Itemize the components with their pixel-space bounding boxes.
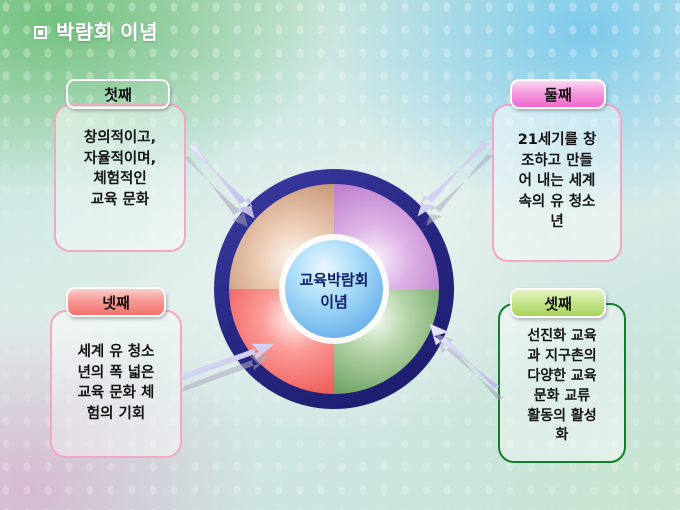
central-wheel-diagram: 교육박람회 이념: [212, 162, 456, 416]
info-box-fourth-header[interactable]: 넷째: [66, 287, 166, 317]
info-box-fourth-header-label: 넷째: [102, 292, 130, 313]
info-box-second-header-label: 둘째: [544, 84, 572, 105]
info-box-third-header-label: 셋째: [544, 293, 572, 314]
info-box-second-header[interactable]: 둘째: [510, 79, 606, 109]
info-box-third: 선진화 교육 과 지구촌의 다양한 교육 문화 교류 활동의 활성 화: [498, 303, 626, 463]
page-title: 박람회 이념: [34, 22, 158, 42]
center-label-line2: 이념: [320, 293, 348, 311]
center-label-line1: 교육박람회: [299, 271, 368, 289]
info-box-second-text: 21세기를 창 조하고 만들 어 내는 세계 속의 유 청소 년: [502, 130, 612, 233]
info-box-second: 21세기를 창 조하고 만들 어 내는 세계 속의 유 청소 년: [492, 104, 622, 262]
page-title-text: 박람회 이념: [56, 22, 158, 42]
info-box-first-header-label: 첫째: [104, 84, 132, 105]
info-box-third-header[interactable]: 셋째: [510, 288, 606, 318]
info-box-fourth: 세계 유 청소 년의 폭 넓은 교육 문화 체 험의 기회: [50, 310, 182, 458]
info-box-first: 창의적이고, 자율적이며, 체험적인 교육 문화: [54, 104, 186, 252]
slide-canvas: 박람회 이념: [0, 0, 680, 510]
hub-circle: [285, 240, 383, 338]
info-box-fourth-text: 세계 유 청소 년의 폭 넓은 교육 문화 체 험의 기회: [60, 342, 172, 424]
info-box-first-text: 창의적이고, 자율적이며, 체험적인 교육 문화: [64, 128, 176, 210]
info-box-third-text: 선진화 교육 과 지구촌의 다양한 교육 문화 교류 활동의 활성 화: [508, 327, 616, 446]
square-bullet-icon: [34, 26, 47, 39]
info-box-first-header[interactable]: 첫째: [66, 79, 170, 109]
